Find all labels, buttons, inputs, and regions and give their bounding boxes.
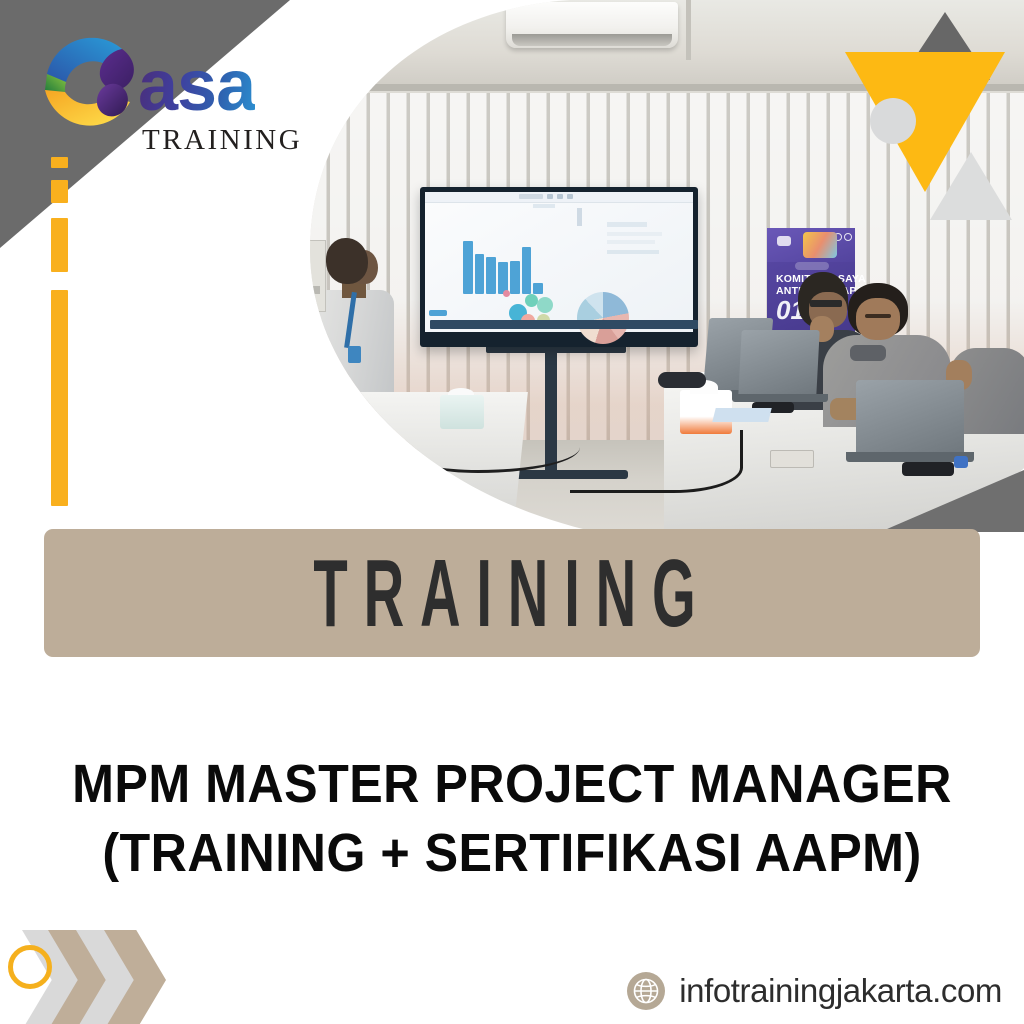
dashboard-bar [486, 257, 496, 294]
display-taskbar-item [547, 194, 553, 199]
display-taskbar-item [519, 194, 543, 199]
participant-2-eyes [865, 314, 891, 318]
rollup-pill [795, 262, 829, 270]
dashboard-bar [522, 247, 532, 294]
tissue-box-left [440, 395, 484, 429]
air-conditioner-vent [512, 34, 672, 46]
ring-yellow-icon [8, 945, 52, 989]
presenter-arm [302, 318, 328, 458]
training-banner: TRAINING [44, 529, 980, 657]
training-banner-label: TRAINING [313, 537, 711, 648]
wall-box [298, 240, 326, 312]
dashboard-bar [475, 254, 485, 294]
dash-lg [51, 290, 68, 506]
display-screen [420, 187, 698, 347]
dash-xs [51, 157, 68, 168]
floor-cable-2 [570, 430, 743, 493]
page-title-line-2: (TRAINING + SERTIFIKASI AAPM) [36, 819, 988, 888]
participant-1-glasses [810, 300, 842, 307]
logo-wordmark: asa [138, 50, 255, 122]
dashboard-widget [607, 250, 659, 254]
dashboard-bar [463, 241, 473, 294]
dashboard-widget [607, 240, 655, 244]
rollup-illustration [803, 232, 837, 258]
dashboard-bar-chart [463, 232, 545, 294]
wall-box-label [302, 286, 320, 294]
laptop-2-lid [738, 330, 819, 396]
dashboard-widget [533, 204, 555, 208]
dashboard-bubble [537, 297, 553, 313]
participant-2-collar [850, 345, 886, 361]
dash-md [51, 218, 68, 272]
display-taskbar-item [567, 194, 573, 199]
power-outlet [770, 450, 814, 468]
circle-gray-icon [870, 98, 916, 144]
rollup-dot [844, 233, 852, 241]
dashboard-bubble [503, 290, 510, 297]
blue-marker [954, 456, 968, 468]
presenter-watch [366, 440, 386, 454]
laptop-2-base [732, 394, 828, 402]
bag-on-table [658, 372, 706, 388]
air-conditioner-pipe [686, 0, 691, 60]
phone-on-table [902, 462, 954, 476]
participant-2-face [856, 298, 900, 340]
presenter-badge [348, 346, 361, 363]
presenter-head [326, 238, 368, 284]
paper-on-table [712, 408, 771, 422]
logo-subtitle: TRAINING [142, 126, 302, 155]
globe-icon [627, 972, 665, 1010]
dashboard-widget [607, 232, 662, 236]
dashboard-bar [533, 283, 543, 294]
display-content [425, 192, 693, 332]
page-title: MPM MASTER PROJECT MANAGER (TRAINING + S… [0, 750, 1024, 888]
dashboard-widget [429, 310, 447, 316]
dashboard-pie-chart [577, 292, 629, 344]
website-footer[interactable]: infotrainingjakarta.com [627, 972, 1002, 1010]
rollup-logo [777, 236, 791, 246]
page-title-line-1: MPM MASTER PROJECT MANAGER [36, 750, 988, 819]
brand-logo: asa TRAINING [30, 18, 330, 158]
display-taskbar [430, 320, 698, 329]
laptop-3-lid [856, 380, 964, 456]
display-taskbar-item [557, 194, 563, 199]
promo-card: KOMITMEN SAYA ANTI PENYUAPAN 01 02 [0, 0, 1024, 1024]
dashboard-bar [510, 261, 520, 294]
circular-swirl-logo-icon [30, 18, 155, 143]
dash-sm [51, 180, 68, 203]
website-url[interactable]: infotrainingjakarta.com [679, 972, 1002, 1010]
dashboard-widget [607, 222, 647, 227]
dashboard-widget [577, 208, 582, 226]
